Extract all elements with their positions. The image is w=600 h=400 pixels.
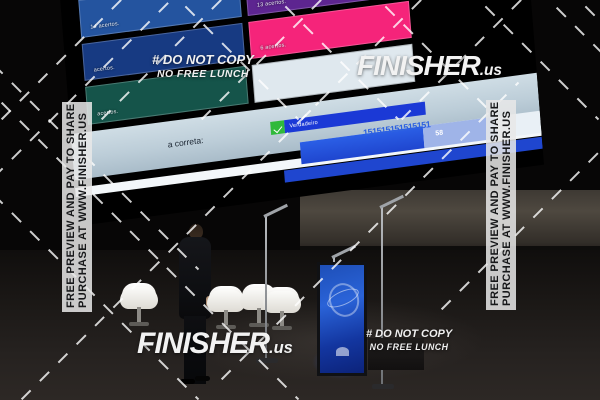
watermark-notice-line2: NO FREE LUNCH bbox=[366, 342, 452, 353]
podium-display bbox=[317, 262, 367, 376]
stool-pole bbox=[280, 311, 284, 327]
watermark-vertical-left: FREE PREVIEW AND PAY TO SHARE PURCHASE A… bbox=[62, 102, 92, 312]
watermark-brand-text: FINISHER bbox=[357, 50, 480, 81]
watermark-vertical-line2: PURCHASE AT WWW.FINISHER.US bbox=[77, 106, 89, 308]
answer-option-label: Verdadeiro bbox=[289, 119, 318, 129]
stool-seat bbox=[120, 287, 158, 309]
watermark-brand-suffix: .us bbox=[480, 62, 502, 79]
watermark-notice-top: # DO NOT COPY NO FREE LUNCH bbox=[152, 52, 254, 81]
stool-pole bbox=[137, 307, 141, 323]
watermark-brand-suffix: .us bbox=[269, 339, 293, 357]
result-tile-label: acertos. bbox=[97, 109, 118, 118]
stool-seat bbox=[263, 291, 301, 313]
watermark-notice-line1: # DO NOT COPY bbox=[366, 328, 452, 340]
watermark-brand-top: FINISHER.us bbox=[357, 50, 502, 82]
speaker-shoe bbox=[195, 376, 210, 381]
watermark-brand-center: FINISHER.us bbox=[137, 327, 293, 361]
photo-canvas: ...ltados por equipe 14 acertos. 13 acer… bbox=[0, 0, 600, 400]
watermark-vertical-line2: PURCHASE AT WWW.FINISHER.US bbox=[501, 104, 513, 306]
stool-pole bbox=[257, 308, 261, 324]
watermark-vertical-line1: FREE PREVIEW AND PAY TO SHARE bbox=[65, 106, 77, 308]
result-tile-label: 14 acertos. bbox=[90, 21, 120, 31]
speaker-shoe bbox=[180, 379, 195, 384]
stool-pole bbox=[224, 310, 228, 326]
result-tile-label: acertos. bbox=[94, 65, 115, 74]
watermark-notice-line1: # DO NOT COPY bbox=[152, 52, 254, 67]
watermark-notice-line2: NO FREE LUNCH bbox=[152, 68, 254, 81]
watermark-vertical-right: FREE PREVIEW AND PAY TO SHARE PURCHASE A… bbox=[486, 100, 516, 310]
podium-lectern bbox=[313, 262, 365, 380]
watermark-brand-text: FINISHER bbox=[137, 327, 269, 360]
bar-stool bbox=[120, 283, 158, 329]
correct-check-icon bbox=[270, 120, 285, 135]
podium-logo-mark-icon bbox=[336, 347, 349, 356]
result-tile-label: 13 acertos. bbox=[257, 0, 287, 8]
stool-base bbox=[129, 322, 149, 326]
result-tile-label: 6 acertos. bbox=[260, 43, 286, 52]
watermark-notice-bottom: # DO NOT COPY NO FREE LUNCH bbox=[366, 328, 452, 353]
watermark-vertical-line1: FREE PREVIEW AND PAY TO SHARE bbox=[489, 104, 501, 306]
